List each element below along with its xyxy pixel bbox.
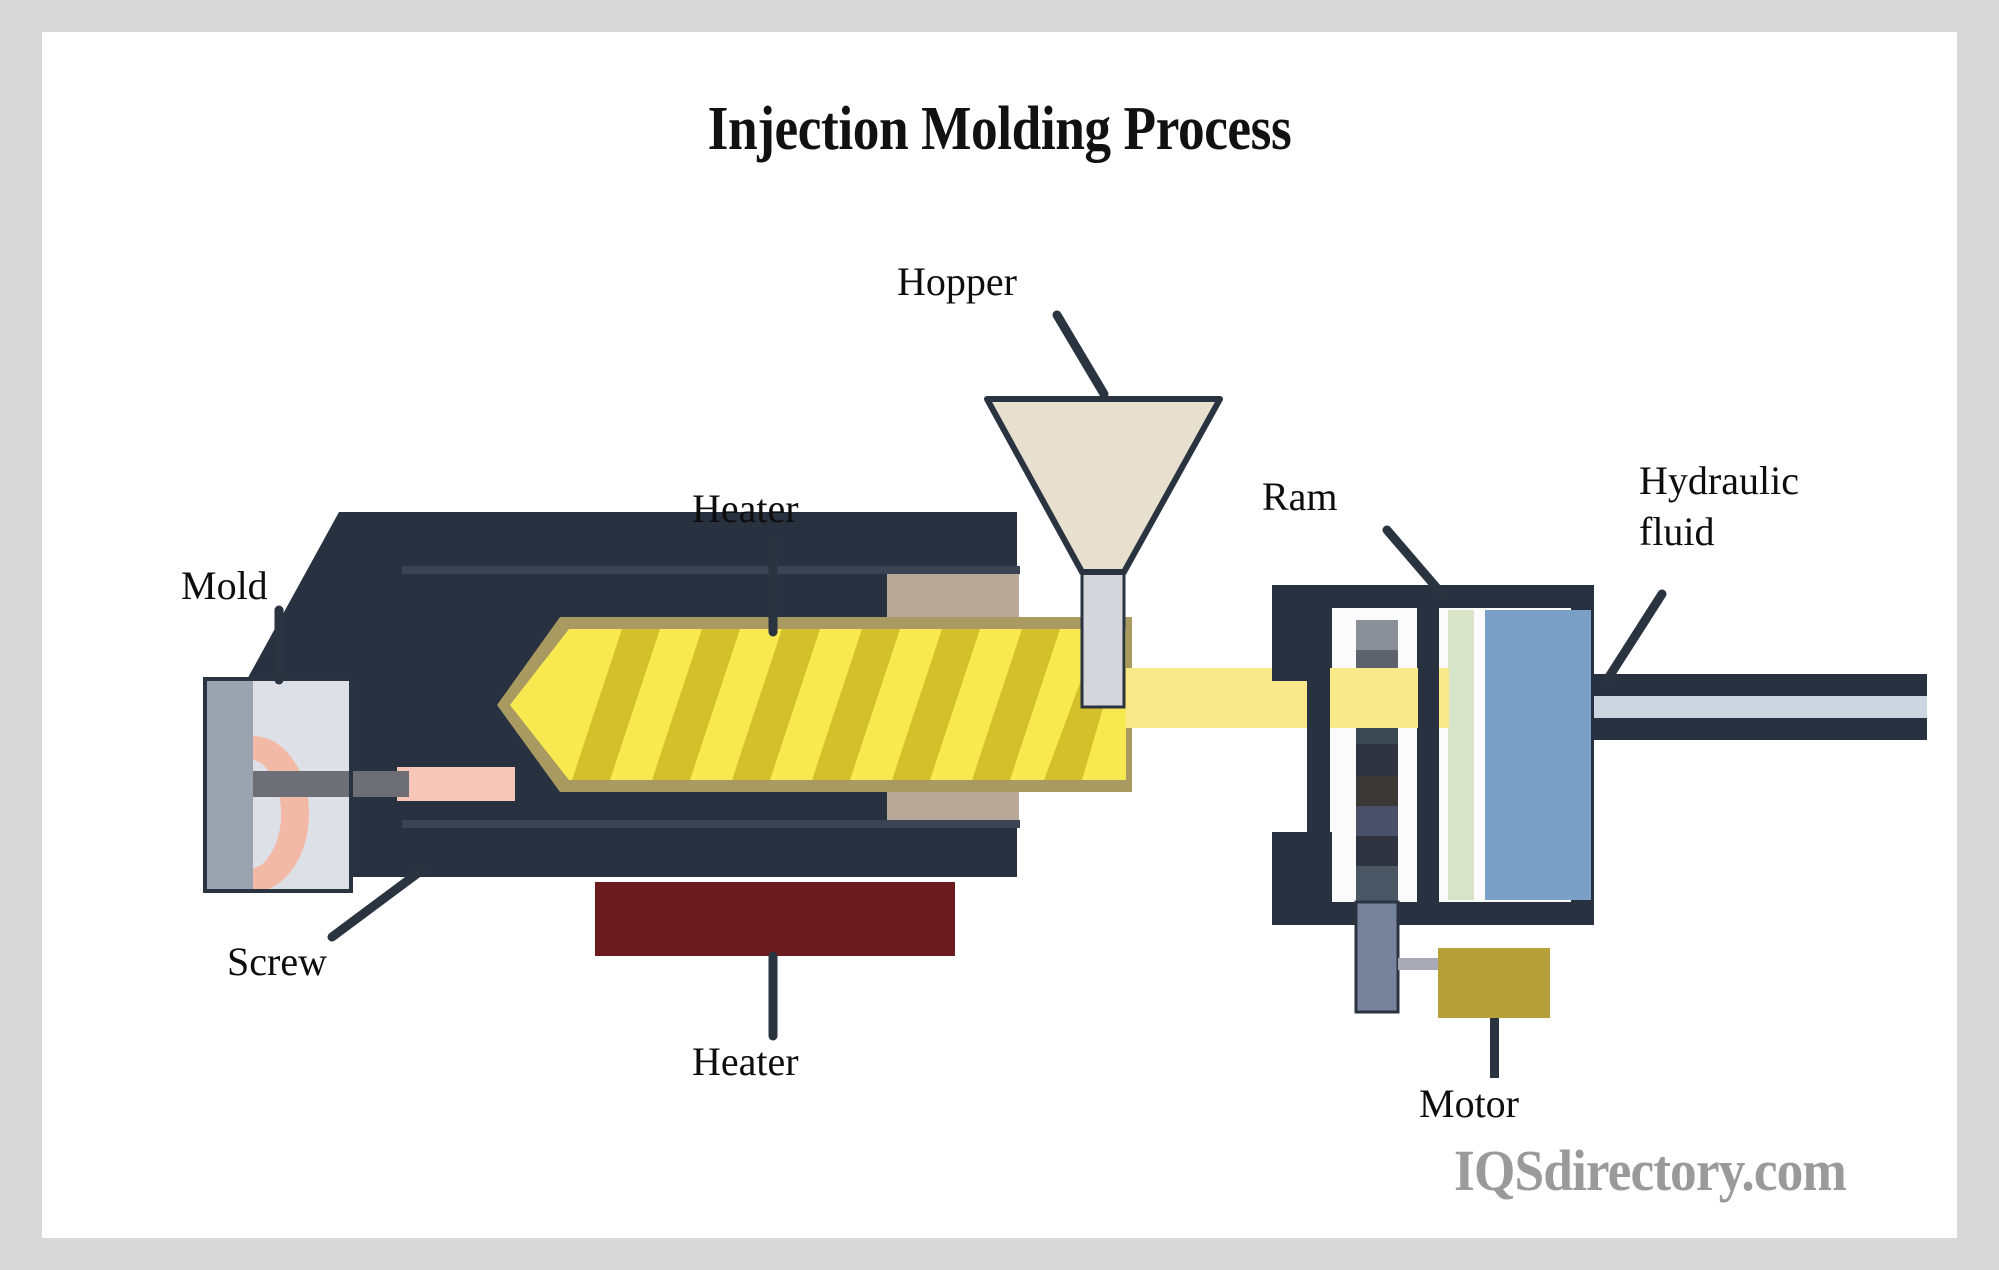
- page-root: Injection Molding Process: [0, 0, 1999, 1270]
- label-hydraulic-fluid-line1: Hydraulic: [1639, 459, 1799, 502]
- label-motor: Motor: [1419, 1082, 1519, 1125]
- screw: [497, 617, 1132, 792]
- mold: [205, 678, 351, 892]
- label-mold: Mold: [181, 564, 268, 607]
- label-heater-bottom: Heater: [692, 1040, 799, 1083]
- label-hopper: Hopper: [897, 260, 1017, 303]
- label-hydraulic-fluid-line2: fluid: [1639, 510, 1715, 553]
- label-ram: Ram: [1262, 475, 1338, 518]
- hydraulic-outlet-pipe: [1594, 674, 1927, 740]
- watermark: IQSdirectory.com: [1454, 1137, 1846, 1204]
- hydraulic-fluid-block: [1485, 610, 1591, 900]
- label-heater-top: Heater: [692, 487, 799, 530]
- label-screw: Screw: [227, 940, 327, 983]
- heater-band-bottom: [595, 882, 955, 956]
- diagram-canvas: Injection Molding Process: [42, 32, 1957, 1238]
- injection-molding-diagram: [42, 32, 1957, 1238]
- motor: [1398, 948, 1550, 1078]
- nozzle-melt-channel: [397, 767, 515, 801]
- ram-seal-strip: [1448, 610, 1474, 900]
- ram-housing: [1272, 585, 1594, 1012]
